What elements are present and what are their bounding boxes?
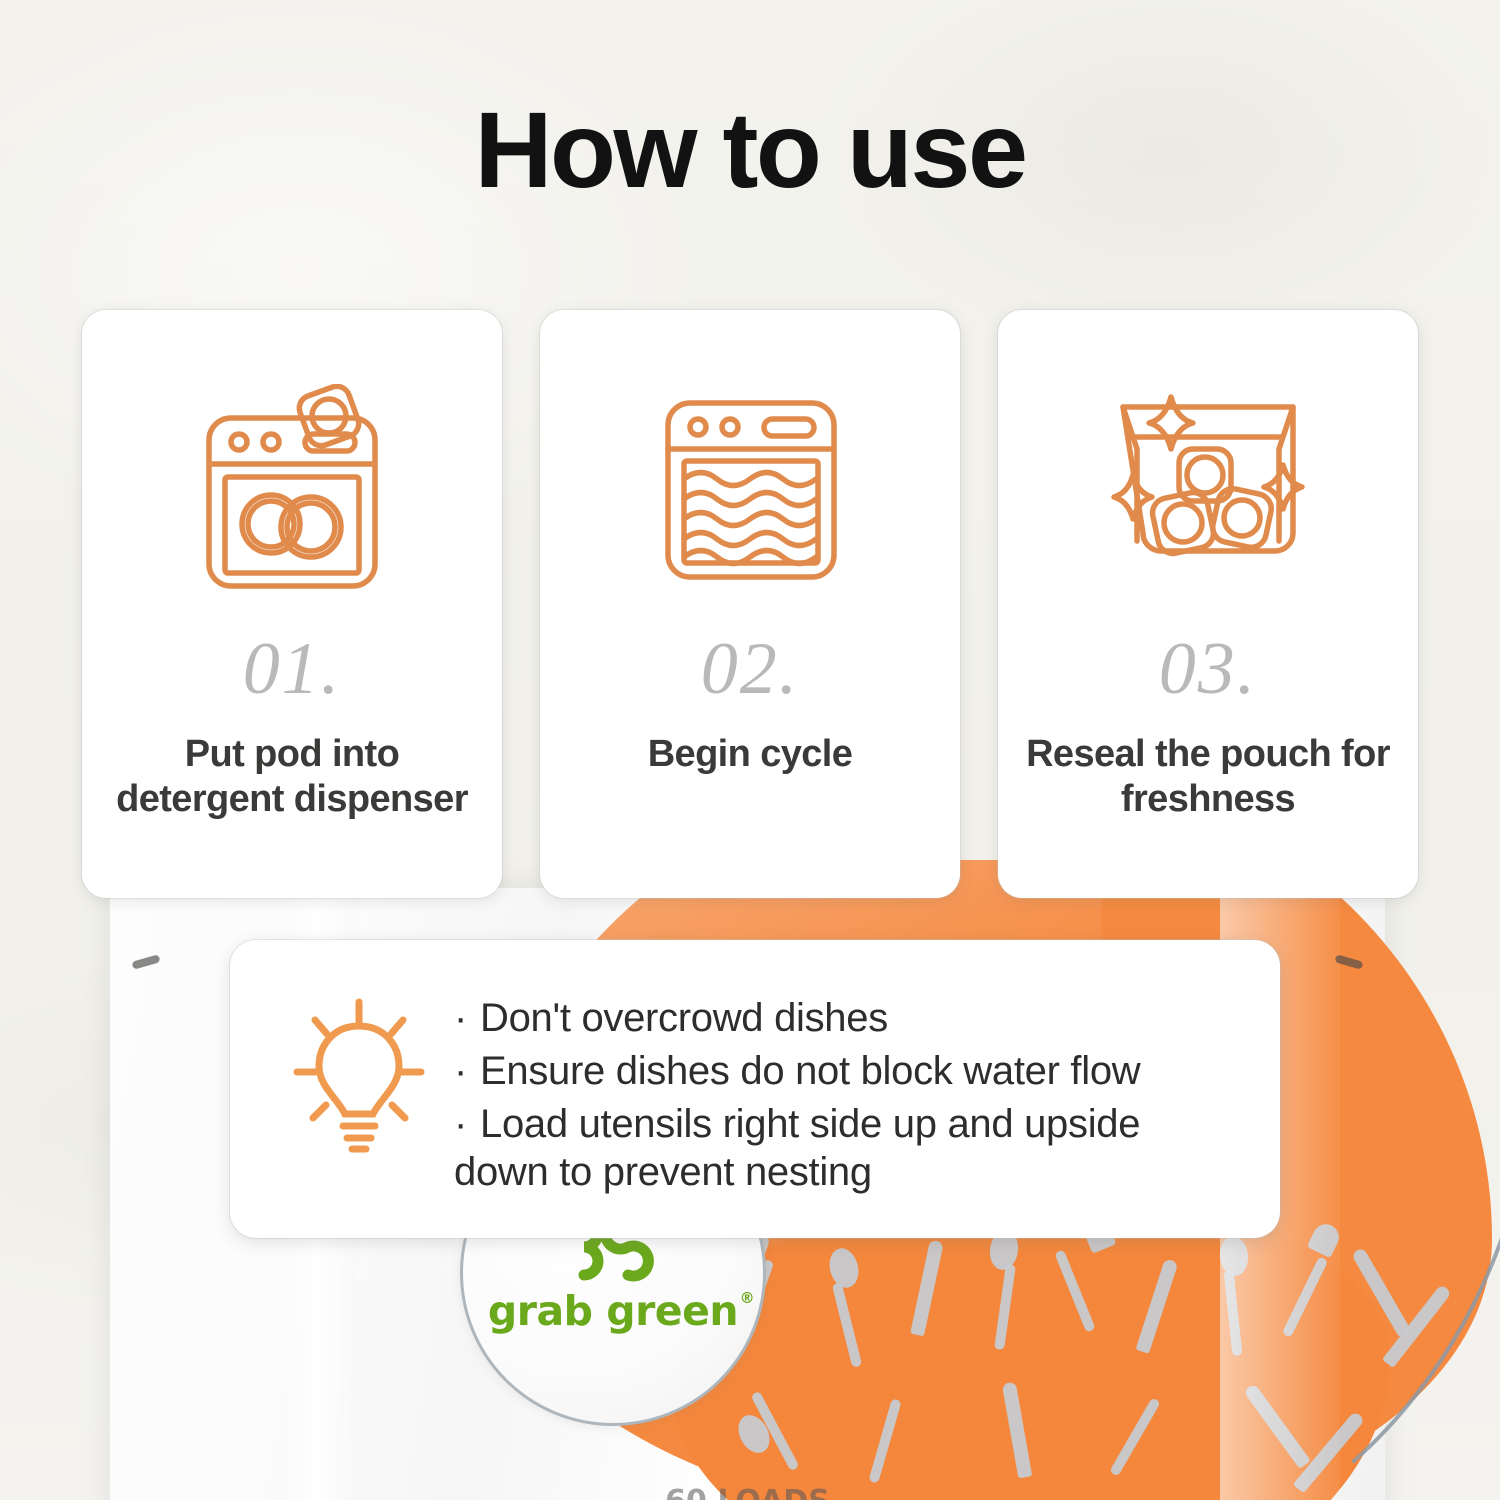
steps-row: 01. Put pod into detergent dispenser [82,310,1418,898]
step-number-3: 03. [1159,632,1258,706]
tip-text-2: Ensure dishes do not block water flow [480,1049,1140,1093]
tip-item-2: ·Ensure dishes do not block water flow [454,1047,1240,1096]
bullet-marker: · [454,1047,480,1096]
step-card-1[interactable]: 01. Put pod into detergent dispenser [82,310,502,898]
lightbulb-icon [264,992,454,1156]
step-card-2[interactable]: 02. Begin cycle [540,310,960,898]
tips-card[interactable]: ·Don't overcrowd dishes ·Ensure dishes d… [230,940,1280,1238]
step-number-2: 02. [701,632,800,706]
tip-text-3: Load utensils right side up and upside [480,1102,1140,1146]
bullet-marker: · [454,1100,480,1149]
bullet-marker: · [454,994,480,1043]
dishwasher-with-pod-icon [187,376,397,606]
step-label-1: Put pod into detergent dispenser [108,732,476,822]
step-card-3[interactable]: 03. Reseal the pouch for freshness [998,310,1418,898]
step-label-3: Reseal the pouch for freshness [1024,732,1392,822]
dishwasher-water-cycle-icon [650,376,850,606]
step-number-1: 01. [243,632,342,706]
step-label-2: Begin cycle [648,732,853,777]
tip-item-1: ·Don't overcrowd dishes [454,994,1240,1043]
tip-text-3-continuation: down to prevent nesting [454,1148,1240,1197]
tip-item-3: ·Load utensils right side up and upside … [454,1100,1240,1198]
resealable-pouch-with-pods-icon [1103,376,1313,606]
tips-list: ·Don't overcrowd dishes ·Ensure dishes d… [454,992,1240,1201]
page-title: How to use [0,96,1500,204]
tip-text-1: Don't overcrowd dishes [480,996,888,1040]
